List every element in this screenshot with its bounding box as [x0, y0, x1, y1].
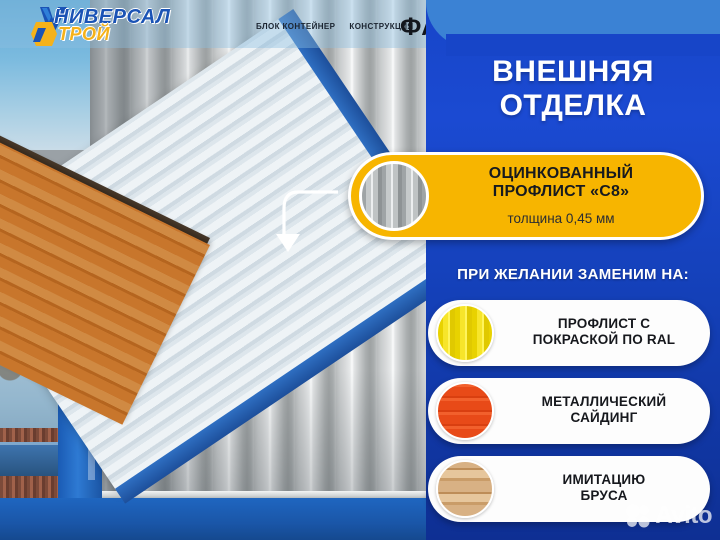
logo-text-bottom: ТРОЙ [58, 24, 110, 45]
options-heading: ПРИ ЖЕЛАНИИ ЗАМЕНИМ НА: [426, 266, 720, 283]
badge-title: ОЦИНКОВАННЫЙ ПРОФЛИСТ «С8» [436, 165, 686, 201]
facade-photo [0, 0, 434, 540]
option-label-siding-line1: МЕТАЛЛИЧЕСКИЙ [506, 394, 702, 410]
wood-imitation-swatch-icon [436, 460, 494, 518]
avito-watermark-text: Avito [655, 502, 712, 530]
galvanized-profile-swatch-icon [359, 161, 429, 231]
avito-watermark: Avito [625, 502, 712, 530]
option-label-wood-line2: БРУСА [506, 488, 702, 504]
yellow-corrugated-swatch-icon [436, 304, 494, 362]
nav-dark-group: БЛОК КОНТЕЙНЕР КОНСТРУКЦИЯ [256, 22, 414, 31]
option-label-ral-line2: ПОКРАСКОЙ ПО RAL [506, 332, 702, 348]
option-label-siding-line2: САЙДИНГ [506, 410, 702, 426]
option-label-ral-line1: ПРОФЛИСТ С [506, 316, 702, 332]
badge-title-line1: ОЦИНКОВАННЫЙ [436, 165, 686, 183]
orange-siding-swatch-icon [436, 382, 494, 440]
option-label-wood-line1: ИМИТАЦИЮ [506, 472, 702, 488]
avito-dots-icon [625, 503, 651, 529]
railing [0, 442, 60, 476]
panel-top-fill [446, 34, 720, 56]
blue-base-band [0, 498, 434, 540]
badge-subtitle: толщина 0,45 мм [436, 211, 686, 226]
option-label-ral: ПРОФЛИСТ С ПОКРАСКОЙ ПО RAL [506, 316, 702, 347]
page-title-line2: ОТДЕЛКА [426, 89, 720, 123]
down-arrow-callout-icon [276, 186, 340, 258]
page-title-line1: ВНЕШНЯЯ [426, 55, 720, 89]
option-label-wood: ИМИТАЦИЮ БРУСА [506, 472, 702, 503]
badge-title-line2: ПРОФЛИСТ «С8» [436, 183, 686, 201]
option-label-siding: МЕТАЛЛИЧЕСКИЙ САЙДИНГ [506, 394, 702, 425]
brand-logo[interactable]: НИВЕРСАЛ ТРОЙ [28, 4, 168, 48]
nav-item-blok-konteyner[interactable]: БЛОК КОНТЕЙНЕР [256, 22, 335, 31]
promo-banner: НИВЕРСАЛ ТРОЙ БЛОК КОНТЕЙНЕР КОНСТРУКЦИЯ… [0, 0, 720, 540]
page-title: ВНЕШНЯЯ ОТДЕЛКА [426, 55, 720, 123]
